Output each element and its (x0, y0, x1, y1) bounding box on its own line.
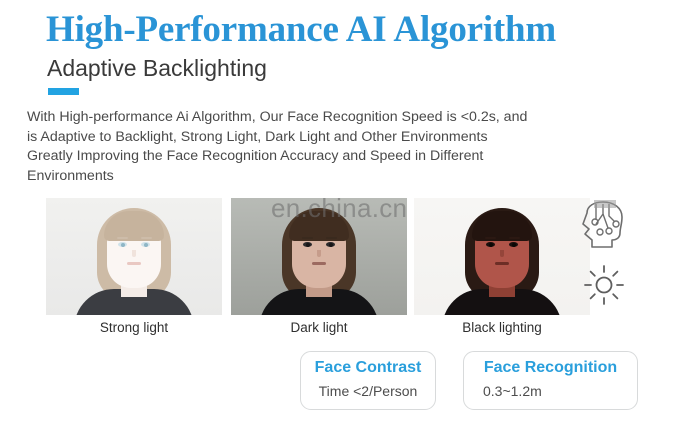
badge-title: Face Contrast (301, 359, 435, 377)
face-photo-dark-light (231, 198, 407, 315)
page-subtitle: Adaptive Backlighting (47, 54, 267, 82)
badge-subtext: Time <2/Person (301, 383, 435, 399)
promo-slide: High-Performance AI Algorithm Adaptive B… (0, 0, 700, 435)
sun-brightness-icon (582, 263, 626, 312)
description-line-2: is Adaptive to Backlight, Strong Light, … (27, 128, 667, 148)
description-paragraph: With High-performance Ai Algorithm, Our … (27, 108, 667, 186)
feature-icon-column (566, 200, 656, 325)
photo-cell-black-lighting: Black lighting (414, 198, 590, 315)
badge-face-contrast: Face Contrast Time <2/Person (300, 351, 436, 410)
accent-bar-divider (48, 88, 79, 95)
face-photo-strong-light (46, 198, 222, 315)
badge-face-recognition: Face Recognition 0.3~1.2m (463, 351, 638, 410)
face-photo-black-lighting (414, 198, 590, 315)
page-title: High-Performance AI Algorithm (46, 8, 556, 52)
photo-caption: Dark light (231, 320, 407, 335)
description-line-3: Greatly Improving the Face Recognition A… (27, 147, 667, 167)
photo-caption: Black lighting (414, 320, 590, 335)
photo-caption: Strong light (46, 320, 222, 335)
badge-title: Face Recognition (464, 359, 637, 377)
photo-cell-dark-light: Dark light (231, 198, 407, 315)
description-line-1: With High-performance Ai Algorithm, Our … (27, 108, 667, 128)
description-line-4: Environments (27, 167, 667, 187)
photo-cell-strong-light: Strong light (46, 198, 222, 315)
badge-subtext: 0.3~1.2m (464, 383, 637, 399)
ai-head-circuit-icon (570, 200, 636, 263)
